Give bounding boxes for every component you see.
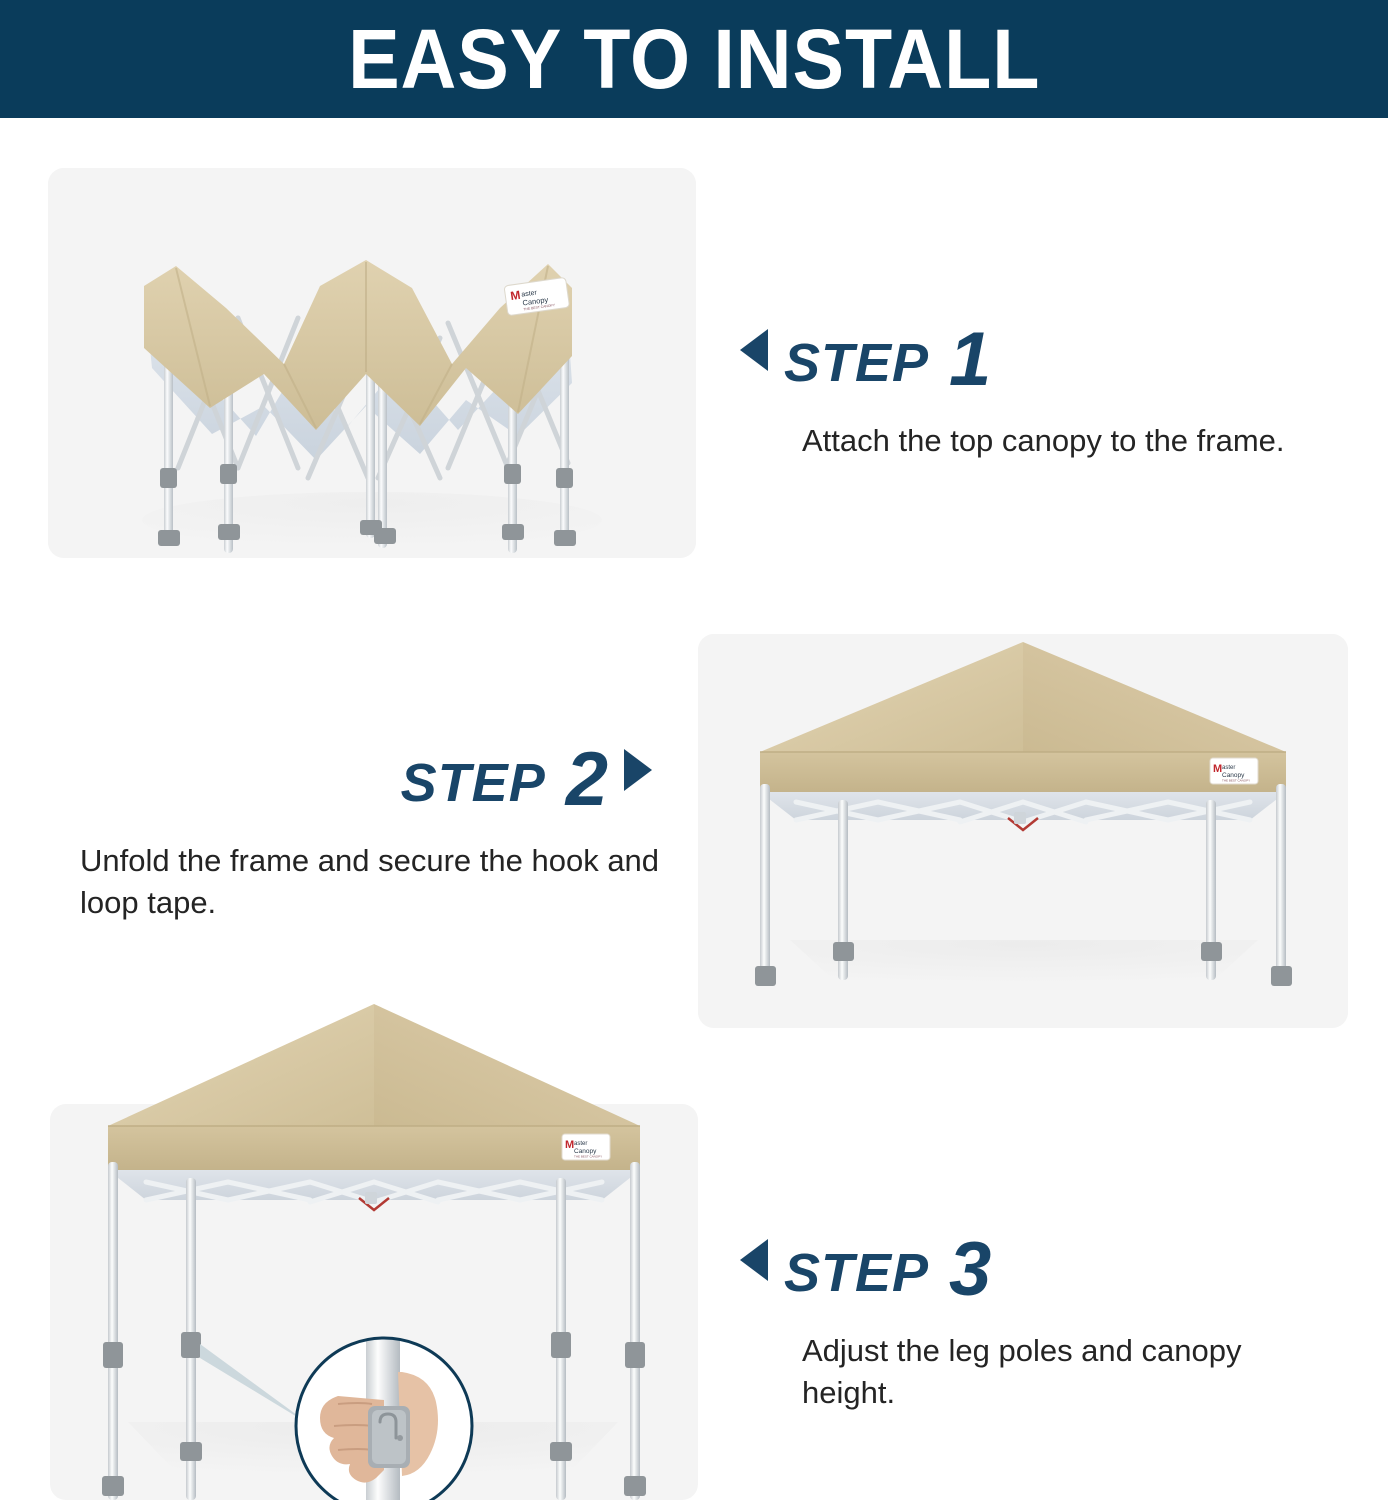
step-1-heading: STEP 1 bbox=[740, 318, 1340, 394]
brand-logo-label: M aster Canopy THE BEST CANOPY bbox=[1210, 758, 1258, 784]
step-2-description: Unfold the frame and secure the hook and… bbox=[62, 840, 662, 924]
step-2-word: STEP bbox=[401, 756, 546, 810]
step-1-word: STEP bbox=[784, 336, 929, 390]
step-1-description: Attach the top canopy to the frame. bbox=[740, 420, 1340, 462]
arrow-right-icon bbox=[624, 749, 652, 791]
assembled-canopy-illustration: M aster Canopy THE BEST CANOPY bbox=[698, 634, 1348, 1028]
svg-text:THE BEST CANOPY: THE BEST CANOPY bbox=[1222, 779, 1250, 783]
page-title: EASY TO INSTALL bbox=[348, 17, 1040, 101]
step-2-heading: STEP 2 bbox=[62, 738, 662, 814]
step-2-text-block: STEP 2 Unfold the frame and secure the h… bbox=[62, 738, 662, 924]
step-1-text-block: STEP 1 Attach the top canopy to the fram… bbox=[740, 318, 1340, 462]
step-3-description: Adjust the leg poles and canopy height. bbox=[740, 1330, 1340, 1414]
header-banner: EASY TO INSTALL bbox=[0, 0, 1388, 118]
step-2-product-image: M aster Canopy THE BEST CANOPY bbox=[698, 634, 1348, 1028]
step-3-heading: STEP 3 bbox=[740, 1228, 1340, 1304]
svg-text:M: M bbox=[1213, 763, 1222, 775]
svg-text:aster: aster bbox=[1222, 765, 1235, 771]
folded-canopy-illustration: M aster Canopy THE BEST CANOPY bbox=[48, 168, 696, 558]
step-1-number: 1 bbox=[949, 322, 991, 398]
step-3-text-block: STEP 3 Adjust the leg poles and canopy h… bbox=[740, 1228, 1340, 1414]
arrow-left-icon bbox=[740, 1239, 768, 1281]
arrow-left-icon bbox=[740, 329, 768, 371]
step-1-product-image: M aster Canopy THE BEST CANOPY bbox=[48, 168, 696, 558]
step-3-number: 3 bbox=[949, 1232, 991, 1308]
step-3-product-image: M aster Canopy THE BEST CANOPY bbox=[50, 1104, 698, 1500]
step-2-number: 2 bbox=[566, 742, 608, 818]
svg-text:M: M bbox=[510, 288, 522, 303]
step-3-word: STEP bbox=[784, 1246, 929, 1300]
